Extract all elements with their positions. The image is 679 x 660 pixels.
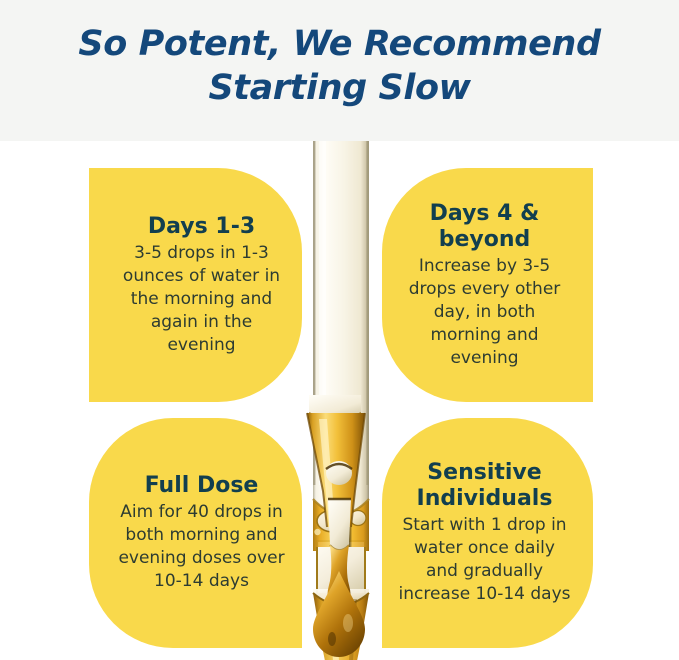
page-title-line-1: So Potent, We Recommend bbox=[78, 24, 600, 64]
page-title: So Potent, We Recommend Starting Slow bbox=[0, 22, 679, 110]
card-body: Start with 1 drop in water once daily an… bbox=[398, 514, 571, 606]
page-title-line-2: Starting Slow bbox=[0, 66, 679, 110]
card-days-4-and-beyond: Days 4 & beyond Increase by 3-5 drops ev… bbox=[382, 168, 593, 402]
card-sensitive-individuals: Sensitive Individuals Start with 1 drop … bbox=[382, 418, 593, 648]
card-body: Aim for 40 drops in both morning and eve… bbox=[115, 501, 288, 593]
card-full-dose: Full Dose Aim for 40 drops in both morni… bbox=[89, 418, 302, 648]
infographic-canvas: So Potent, We Recommend Starting Slow bbox=[0, 0, 679, 660]
card-days-1-3: Days 1-3 3-5 drops in 1-3 ounces of wate… bbox=[89, 168, 302, 402]
card-heading: Days 4 & beyond bbox=[398, 201, 571, 253]
card-heading: Sensitive Individuals bbox=[398, 460, 571, 512]
card-heading: Days 1-3 bbox=[148, 214, 255, 240]
card-body: Increase by 3-5 drops every other day, i… bbox=[398, 255, 571, 370]
dropper-nozzle-and-droplet bbox=[299, 395, 383, 660]
card-body: 3-5 drops in 1-3 ounces of water in the … bbox=[115, 242, 288, 357]
card-heading: Full Dose bbox=[145, 473, 259, 499]
